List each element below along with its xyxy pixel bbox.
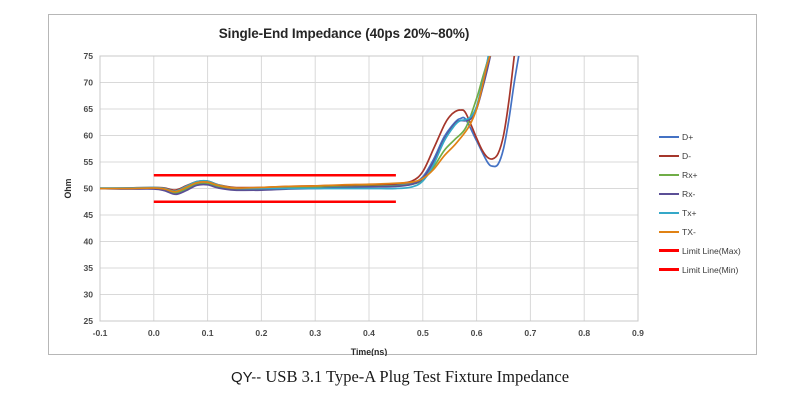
y-tick-label: 40 <box>83 237 93 247</box>
screenshot-root: Single-End Impedance (40ps 20%~80%) 2530… <box>0 0 800 407</box>
legend-label: D- <box>682 151 691 161</box>
x-tick-label: 0.0 <box>148 328 160 338</box>
chart-container: Single-End Impedance (40ps 20%~80%) 2530… <box>48 14 757 355</box>
y-tick-label: 25 <box>83 316 93 326</box>
x-tick-label: 0.4 <box>363 328 375 338</box>
figure-caption: QY-- USB 3.1 Type-A Plug Test Fixture Im… <box>0 367 800 387</box>
legend-swatch-icon <box>659 174 679 176</box>
legend-swatch-icon <box>659 268 679 271</box>
legend-item[interactable]: Rx- <box>659 184 779 203</box>
legend-swatch-icon <box>659 249 679 252</box>
legend-swatch-icon <box>659 136 679 138</box>
legend-label: Limit Line(Max) <box>682 246 741 256</box>
caption-prefix: QY-- <box>231 369 261 386</box>
x-tick-label: 0.8 <box>578 328 590 338</box>
legend-swatch-icon <box>659 155 679 157</box>
y-tick-label: 50 <box>83 184 93 194</box>
legend-item[interactable]: D+ <box>659 127 779 146</box>
y-axis-title: Ohm <box>63 178 73 198</box>
y-tick-label: 30 <box>83 290 93 300</box>
x-tick-label: 0.7 <box>524 328 536 338</box>
y-tick-label: 75 <box>83 51 93 61</box>
chart-plot: 2530354045505560657075-0.10.00.10.20.30.… <box>49 15 758 356</box>
y-tick-label: 70 <box>83 78 93 88</box>
legend-item[interactable]: D- <box>659 146 779 165</box>
legend-swatch-icon <box>659 231 679 233</box>
x-tick-label: -0.1 <box>93 328 108 338</box>
chart-legend: D+D-Rx+Rx-Tx+TX-Limit Line(Max)Limit Lin… <box>659 127 779 279</box>
x-tick-label: 0.5 <box>417 328 429 338</box>
legend-label: D+ <box>682 132 693 142</box>
legend-label: Tx+ <box>682 208 697 218</box>
x-tick-label: 0.6 <box>471 328 483 338</box>
legend-item[interactable]: Rx+ <box>659 165 779 184</box>
legend-item[interactable]: Limit Line(Max) <box>659 241 779 260</box>
legend-swatch-icon <box>659 212 679 214</box>
x-tick-label: 0.3 <box>309 328 321 338</box>
legend-item[interactable]: Limit Line(Min) <box>659 260 779 279</box>
x-tick-label: 0.9 <box>632 328 644 338</box>
legend-item[interactable]: TX- <box>659 222 779 241</box>
y-tick-label: 45 <box>83 210 93 220</box>
y-tick-label: 35 <box>83 263 93 273</box>
legend-label: Limit Line(Min) <box>682 265 738 275</box>
caption-text: USB 3.1 Type-A Plug Test Fixture Impedan… <box>265 367 569 386</box>
legend-label: Rx- <box>682 189 695 199</box>
legend-item[interactable]: Tx+ <box>659 203 779 222</box>
y-tick-label: 60 <box>83 131 93 141</box>
legend-label: TX- <box>682 227 696 237</box>
x-axis-title: Time(ns) <box>351 347 388 356</box>
y-tick-label: 65 <box>83 104 93 114</box>
legend-swatch-icon <box>659 193 679 195</box>
x-tick-label: 0.1 <box>202 328 214 338</box>
legend-label: Rx+ <box>682 170 698 180</box>
y-tick-label: 55 <box>83 157 93 167</box>
x-tick-label: 0.2 <box>255 328 267 338</box>
